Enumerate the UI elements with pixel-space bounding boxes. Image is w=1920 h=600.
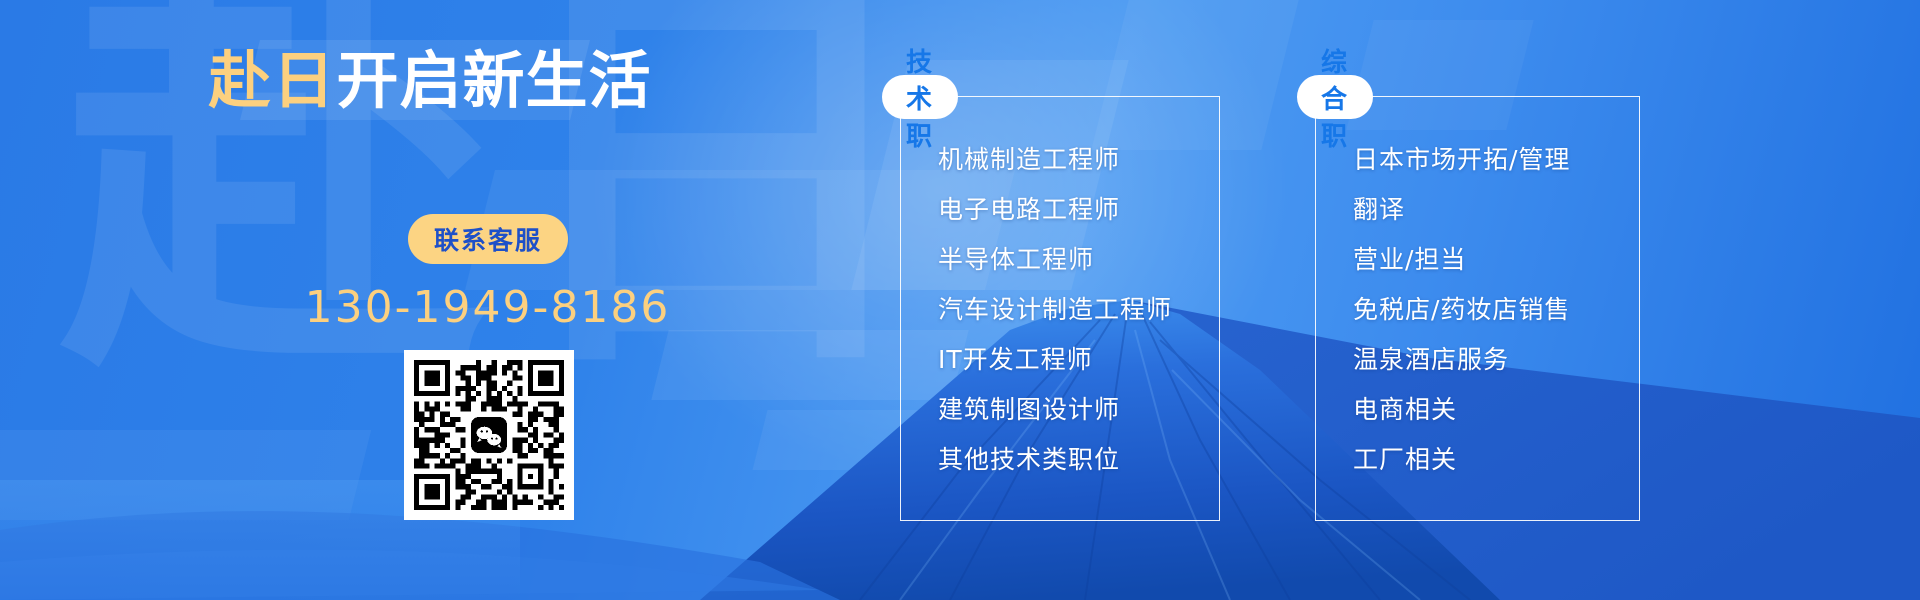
list-item[interactable]: IT开发工程师 <box>938 347 1172 372</box>
promo-banner: 赴日 <box>0 0 1920 600</box>
list-item[interactable]: 其他技术类职位 <box>938 447 1172 472</box>
list-item[interactable]: 电子电路工程师 <box>938 197 1172 222</box>
phone-number[interactable]: 130-1949-8186 <box>0 282 975 333</box>
list-item[interactable]: 营业/担当 <box>1353 247 1570 272</box>
list-item[interactable]: 温泉酒店服务 <box>1353 347 1570 372</box>
panel-badge-general[interactable]: 综合职 <box>1297 75 1373 119</box>
list-item[interactable]: 免税店/药妆店销售 <box>1353 297 1570 322</box>
list-item[interactable]: 建筑制图设计师 <box>938 397 1172 422</box>
panel-badge-technical[interactable]: 技术职 <box>882 75 958 119</box>
qr-code[interactable] <box>404 350 574 520</box>
job-list-technical: 机械制造工程师 电子电路工程师 半导体工程师 汽车设计制造工程师 IT开发工程师… <box>938 147 1172 472</box>
qr-code-image <box>414 360 564 510</box>
headline-highlight: 赴日 <box>208 44 336 117</box>
page-title: 赴日开启新生活 <box>0 48 860 113</box>
left-content: 赴日开启新生活 联系客服 130-1949-8186 <box>0 0 860 600</box>
contact-support-button[interactable]: 联系客服 <box>408 214 568 264</box>
headline-rest: 开启新生活 <box>337 44 652 117</box>
list-item[interactable]: 电商相关 <box>1353 397 1570 422</box>
list-item[interactable]: 机械制造工程师 <box>938 147 1172 172</box>
job-list-general: 日本市场开拓/管理 翻译 营业/担当 免税店/药妆店销售 温泉酒店服务 电商相关… <box>1353 147 1570 472</box>
list-item[interactable]: 半导体工程师 <box>938 247 1172 272</box>
list-item[interactable]: 汽车设计制造工程师 <box>938 297 1172 322</box>
list-item[interactable]: 日本市场开拓/管理 <box>1353 147 1570 172</box>
list-item[interactable]: 翻译 <box>1353 197 1570 222</box>
list-item[interactable]: 工厂相关 <box>1353 447 1570 472</box>
